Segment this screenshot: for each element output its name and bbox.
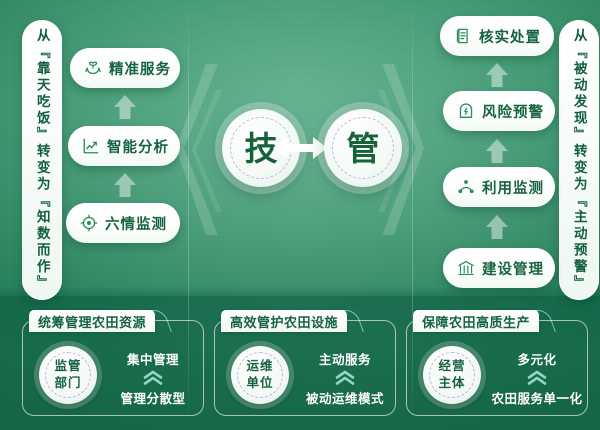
double-arrow-horizontal-icon <box>271 133 329 163</box>
chip-label: 建设管理 <box>482 258 544 279</box>
panel-title: 高效管护农田设施 <box>230 312 338 331</box>
right-vertical-banner: 从『被动发现』转变为『主动预警』 <box>559 20 599 300</box>
shield-bolt-icon <box>457 102 475 120</box>
panel-actor-line2: 主体 <box>438 376 465 392</box>
clipboard-checklist-icon <box>454 27 472 45</box>
chip-label: 利用监测 <box>482 177 544 198</box>
chip-utilization-monitoring[interactable]: 利用监测 <box>443 167 555 207</box>
center-circle-glyph: 管 <box>347 132 380 165</box>
panel-to-state: 多元化 <box>491 349 583 368</box>
panel-actor-line1: 运维 <box>246 359 273 375</box>
center-circle-management[interactable]: 管 <box>324 109 402 187</box>
panel-to-state: 主动服务 <box>299 349 391 368</box>
chip-label: 六情监测 <box>105 213 167 234</box>
left-vertical-banner: 从『靠天吃饭』转变为『知数而作』 <box>22 20 62 300</box>
hands-sprout-icon <box>84 59 102 77</box>
panel-tab: 保障农田高质生产 <box>413 310 539 332</box>
panel-transition: 集中管理 管理分散型 <box>107 349 199 407</box>
left-banner-text: 从『靠天吃饭』转变为『知数而作』 <box>35 28 49 292</box>
chip-risk-warning[interactable]: 风险预警 <box>443 91 555 131</box>
panel-transition: 主动服务 被动运维模式 <box>299 349 391 407</box>
chip-label: 精准服务 <box>109 58 171 79</box>
chip-label: 智能分析 <box>107 136 169 157</box>
chip-label: 风险预警 <box>482 101 544 122</box>
chip-precision-service[interactable]: 精准服务 <box>70 48 180 88</box>
panel-from-state: 被动运维模式 <box>299 388 391 407</box>
panel-tab: 统筹管理农田资源 <box>29 310 155 332</box>
crosshair-target-icon <box>80 214 98 232</box>
chip-construction-management[interactable]: 建设管理 <box>443 248 555 288</box>
decor-chevron-left <box>176 62 222 237</box>
panel-title: 统筹管理农田资源 <box>38 312 146 331</box>
panel-from-state: 管理分散型 <box>107 388 199 407</box>
panel-actor-circle[interactable]: 经营 主体 <box>423 346 481 404</box>
bottom-panel-quality-production: 保障农田高质生产 经营 主体 多元化 农田服务单一化 <box>406 320 588 416</box>
chevron-up-icon <box>107 370 199 386</box>
arrow-up-right-2 <box>484 138 510 164</box>
chip-six-condition-monitoring[interactable]: 六情监测 <box>66 203 180 243</box>
panel-actor-line2: 部门 <box>54 376 81 392</box>
chip-intelligent-analysis[interactable]: 智能分析 <box>68 126 180 166</box>
bottom-panel-facility-maintenance: 高效管护农田设施 运维 单位 主动服务 被动运维模式 <box>214 320 396 416</box>
panel-actor-line1: 经营 <box>438 359 465 375</box>
panel-transition: 多元化 农田服务单一化 <box>491 349 583 407</box>
chevron-up-icon <box>299 370 391 386</box>
bank-building-icon <box>457 259 475 277</box>
panel-to-state: 集中管理 <box>107 349 199 368</box>
panel-from-state: 农田服务单一化 <box>491 388 583 407</box>
arrow-up-left-1 <box>112 94 138 120</box>
panel-title: 保障农田高质生产 <box>422 312 530 331</box>
bottom-panel-coordinate-resources: 统筹管理农田资源 监管 部门 集中管理 管理分散型 <box>22 320 204 416</box>
panel-actor-circle[interactable]: 运维 单位 <box>231 346 289 404</box>
panel-actor-circle[interactable]: 监管 部门 <box>39 346 97 404</box>
panel-actor-line1: 监管 <box>54 359 81 375</box>
chevron-up-icon <box>491 370 583 386</box>
arrow-up-left-2 <box>112 172 138 198</box>
arrow-up-right-1 <box>484 62 510 88</box>
arrow-up-right-3 <box>484 214 510 240</box>
chip-label: 核实处置 <box>479 26 541 47</box>
chip-verify-disposal[interactable]: 核实处置 <box>440 16 554 56</box>
recycle-nodes-icon <box>457 178 475 196</box>
infographic-root: 从『靠天吃饭』转变为『知数而作』 从『被动发现』转变为『主动预警』 精准服务 <box>0 0 600 430</box>
panel-actor-line2: 单位 <box>246 376 273 392</box>
right-banner-text: 从『被动发现』转变为『主动预警』 <box>572 28 586 292</box>
chart-trend-icon <box>82 137 100 155</box>
panel-tab: 高效管护农田设施 <box>221 310 347 332</box>
